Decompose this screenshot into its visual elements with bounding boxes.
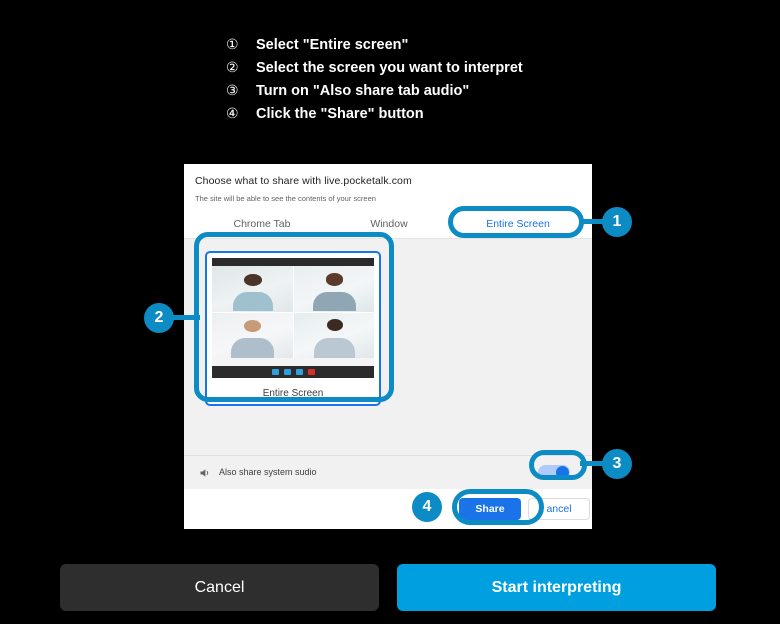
instruction-number: ③ (226, 82, 256, 99)
highlight-ring-entire-screen-tab (448, 206, 584, 238)
instruction-item: ③ Turn on "Also share tab audio" (226, 79, 646, 102)
instruction-text: Turn on "Also share tab audio" (256, 83, 469, 99)
share-audio-label: Also share system sudio (219, 467, 317, 477)
dialog-title: Choose what to share with live.pocketalk… (195, 175, 412, 187)
cancel-button[interactable]: Cancel (60, 564, 379, 611)
callout-badge-1: 1 (602, 207, 632, 237)
instruction-text: Click the "Share" button (256, 106, 424, 122)
instruction-list: ① Select "Entire screen" ② Select the sc… (226, 33, 646, 125)
instruction-item: ② Select the screen you want to interpre… (226, 56, 646, 79)
callout-badge-4: 4 (412, 492, 442, 522)
instruction-number: ④ (226, 105, 256, 122)
instruction-number: ② (226, 59, 256, 76)
highlight-ring-screen-thumbnail (194, 232, 394, 402)
instruction-item: ① Select "Entire screen" (226, 33, 646, 56)
callout-connector (170, 315, 200, 320)
speaker-icon (199, 467, 211, 479)
instruction-item: ④ Click the "Share" button (226, 102, 646, 125)
instruction-text: Select "Entire screen" (256, 37, 408, 53)
highlight-ring-audio-toggle (529, 450, 587, 480)
callout-badge-3: 3 (602, 449, 632, 479)
start-interpreting-button[interactable]: Start interpreting (397, 564, 716, 611)
instruction-text: Select the screen you want to interpret (256, 60, 523, 76)
callout-badge-2: 2 (144, 303, 174, 333)
highlight-ring-share-button (452, 489, 544, 525)
dialog-subtitle: The site will be able to see the content… (195, 194, 376, 203)
instruction-number: ① (226, 36, 256, 53)
